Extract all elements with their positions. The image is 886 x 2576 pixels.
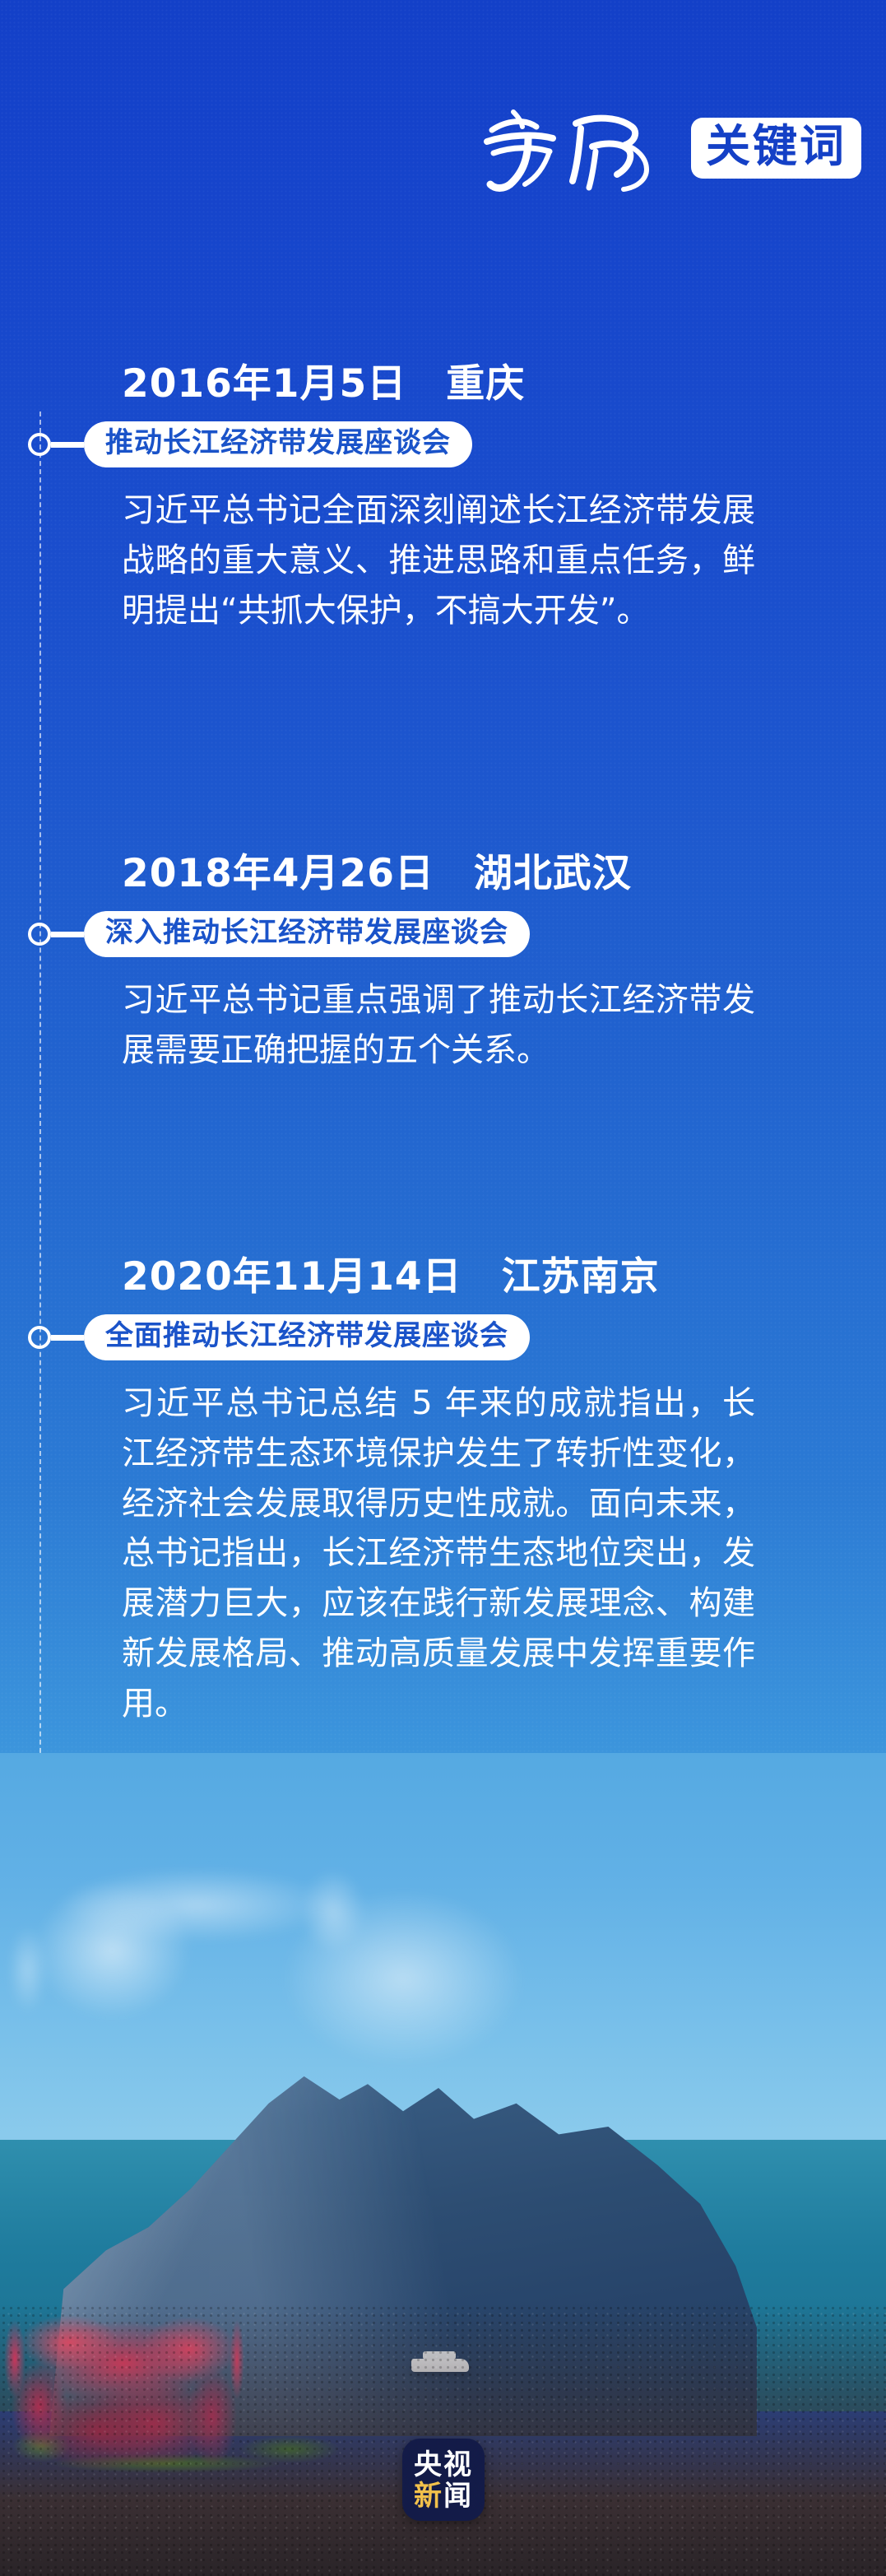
entry-date-location: 2020年11月14日 江苏南京: [122, 1255, 886, 1300]
timeline-connector-bar: [51, 932, 84, 937]
timeline-connector-bar: [51, 1335, 84, 1341]
cctv-logo-char-xin: 新: [414, 2480, 443, 2513]
timeline-node-dot-icon: [28, 1326, 51, 1349]
xuexi-brush-calligraphy-icon: [471, 99, 717, 198]
entry-date-location: 2018年4月26日 湖北武汉: [122, 852, 886, 896]
timeline-entry-2: 2018年4月26日 湖北武汉 深入推动长江经济带发展座谈会 习近平总书记重点强…: [0, 852, 886, 1076]
entry-pill-row: 全面推动长江经济带发展座谈会: [28, 1314, 886, 1360]
timeline-entry-3: 2020年11月14日 江苏南京 全面推动长江经济带发展座谈会 习近平总书记总结…: [0, 1255, 886, 1729]
cctv-news-logo: 央视 新闻: [402, 2439, 485, 2521]
timeline-connector-bar: [51, 442, 84, 448]
entry-pill-row: 深入推动长江经济带发展座谈会: [28, 911, 886, 957]
keyword-badge: 关键词: [691, 118, 861, 179]
entry-topic-pill: 推动长江经济带发展座谈会: [84, 421, 472, 467]
entry-date-location: 2016年1月5日 重庆: [122, 362, 886, 407]
infographic-poster: 关键词 2016年1月5日 重庆 推动长江经济带发展座谈会 习近平总书记全面深刻…: [0, 0, 886, 2576]
entry-body-text: 习近平总书记全面深刻阐述长江经济带发展战略的重大意义、推进思路和重点任务，鲜明提…: [122, 486, 755, 635]
entry-body-text: 习近平总书记重点强调了推动长江经济带发展需要正确把握的五个关系。: [122, 975, 755, 1076]
timeline-entry-1: 2016年1月5日 重庆 推动长江经济带发展座谈会 习近平总书记全面深刻阐述长江…: [0, 362, 886, 635]
cctv-logo-char-wen: 闻: [443, 2480, 473, 2513]
timeline-node-dot-icon: [28, 433, 51, 456]
entry-topic-pill: 全面推动长江经济带发展座谈会: [84, 1314, 530, 1360]
cctv-logo-top-text: 央视: [414, 2451, 473, 2479]
entry-topic-pill: 深入推动长江经济带发展座谈会: [84, 911, 530, 957]
header-logo: 关键词: [471, 99, 861, 198]
entry-pill-row: 推动长江经济带发展座谈会: [28, 421, 886, 467]
timeline-node-dot-icon: [28, 923, 51, 946]
cctv-logo-bottom-text: 新闻: [414, 2482, 473, 2510]
entry-body-text: 习近平总书记总结 5 年来的成就指出，长江经济带生态环境保护发生了转折性变化，经…: [122, 1379, 755, 1729]
